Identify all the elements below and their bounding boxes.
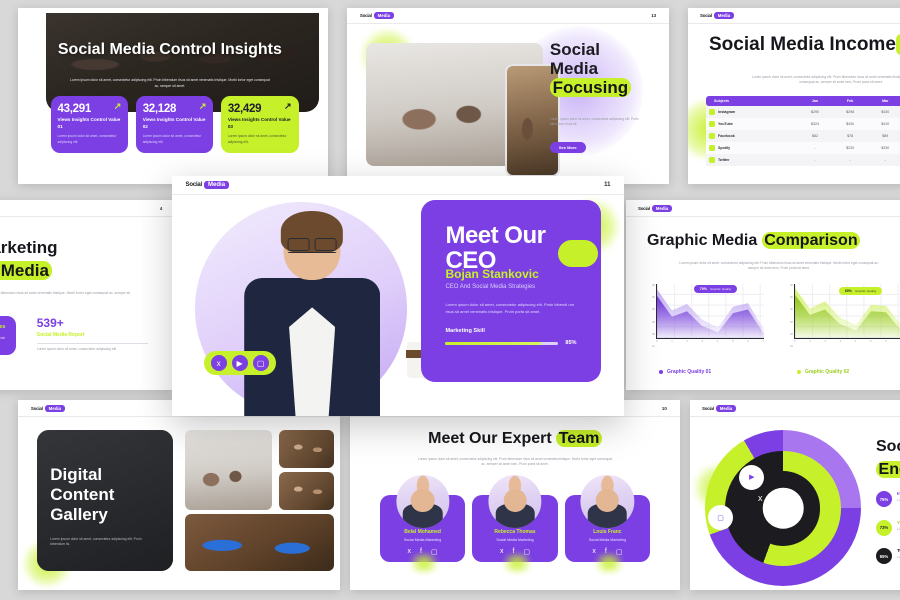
- page-title: Social Media Income: [709, 34, 900, 56]
- platform-icon: [709, 109, 715, 115]
- page-title-line-1: Social: [876, 438, 900, 456]
- brand-name-part2: Media: [714, 12, 734, 19]
- platform-icon: [709, 157, 715, 163]
- stat-value: 539+: [37, 316, 148, 330]
- stat-card[interactable]: ↗ 43,291 Views Insights Control Value 01…: [51, 96, 129, 153]
- stat-note: Lorem ipsum dolor sit amet, consectetur …: [228, 134, 292, 145]
- instagram-icon[interactable]: ▢: [253, 355, 269, 371]
- title-highlight: The Social Media: [0, 261, 52, 280]
- member-social-links: x f ▢: [477, 548, 553, 556]
- table-cell: -: [797, 154, 832, 166]
- team-member-card[interactable]: Rebecca Thomas Social Media Marketing x …: [472, 495, 558, 562]
- stat-card[interactable]: ↗ 32,128 Views Insights Control Value 02…: [136, 96, 214, 153]
- platform-icon: [709, 121, 715, 127]
- table-header-row: Subjects Jan Feb Mar Apr Total: [706, 96, 900, 106]
- column-header: Feb: [833, 96, 868, 106]
- template-showcase: Social Media Control Insights Lorem ipsu…: [0, 0, 900, 600]
- annotation-label: Graphic Quality: [710, 287, 731, 291]
- stat-label: Views Insights Control Value 02: [143, 117, 207, 130]
- slide-meet-our-expert-team[interactable]: Social Media 10 Meet Our Expert Team Lor…: [350, 400, 680, 590]
- portrait-shirt: [289, 307, 335, 416]
- stat-note: Lorem ipsum dolor sit amet, consectetur …: [37, 347, 148, 352]
- member-role: Social Media Marketing: [385, 538, 461, 542]
- slide-header: Social Media: [690, 400, 900, 417]
- slide-social-media-control-insights[interactable]: Social Media Control Insights Lorem ipsu…: [18, 8, 328, 184]
- annotation-value: 70%: [700, 287, 707, 291]
- legend-label: Graphic Quality 01: [667, 369, 711, 375]
- youtube-icon: ▶: [739, 465, 764, 490]
- slide-social-media-income[interactable]: Social Media Social Media Income Lorem i…: [688, 8, 900, 184]
- page-title: Social Media Control Insights: [46, 40, 294, 60]
- table-cell: $89: [868, 130, 900, 142]
- page-title: Graphic Media Comparison: [647, 232, 860, 250]
- stat-card-group: ↗ 43,291 Views Insights Control Value 01…: [51, 96, 299, 153]
- twitter-icon[interactable]: x: [211, 355, 227, 371]
- table-row: Twitter---$499$499: [706, 154, 900, 166]
- legend-dot-icon: [797, 370, 801, 374]
- annotation-label: Graphic Quality: [855, 289, 876, 293]
- progress-fill: [445, 342, 541, 345]
- slide-header: Social Media 13: [347, 8, 669, 24]
- stat-label: Views Insights Control Value 03: [228, 117, 292, 130]
- platform-icon: [709, 145, 715, 151]
- skill-percent: 85%: [565, 340, 576, 346]
- brand-name-part1: Social: [186, 182, 202, 188]
- member-card-body: Louis Franc Social Media Marketing x f ▢: [565, 495, 651, 562]
- title-highlight: Team: [556, 430, 602, 447]
- row-label: Instagram: [706, 106, 797, 118]
- twitter-icon[interactable]: x: [592, 548, 596, 556]
- row-label: Spotify: [706, 142, 797, 154]
- report-stat: 539+ Social Media Report Lorem ipsum dol…: [37, 316, 148, 352]
- gallery-tile: [279, 472, 334, 510]
- ceo-role: CEO And Social Media Strategies: [445, 284, 576, 290]
- income-table: Subjects Jan Feb Mar Apr Total Instagram…: [706, 96, 900, 166]
- brand-name-part2: Media: [45, 405, 65, 412]
- instagram-icon: ▢: [708, 505, 733, 530]
- table-cell: -: [833, 154, 868, 166]
- column-header: Jan: [797, 96, 832, 106]
- member-name: Rebecca Thomas: [477, 529, 553, 535]
- row-label: Twitter: [706, 154, 797, 166]
- youtube-icon[interactable]: ▶: [232, 355, 248, 371]
- chart-graphic-quality-02: 908060503010 01234567 60% Graphic Qualit…: [785, 284, 900, 349]
- engagement-row: 65% Twitter Lorem ipsum dolor sit: [876, 548, 900, 564]
- facebook-icon[interactable]: f: [512, 548, 514, 556]
- title-line-3-highlight: Focusing: [550, 78, 631, 97]
- member-name: Belal Mohamed: [385, 529, 461, 535]
- stat-caption: Social Media Report: [37, 332, 148, 339]
- ceo-name: Bojan Stankovic: [445, 267, 576, 281]
- percent-badge: 65%: [876, 548, 892, 564]
- slide-content-marketing[interactable]: Social Media 4 Content Marketing The Soc…: [0, 200, 174, 390]
- instagram-icon[interactable]: ▢: [616, 548, 623, 556]
- percent-badge: 75%: [876, 491, 892, 507]
- slide-social-engagement[interactable]: Social Media ▶ ▢ x Social Engagement 75%…: [690, 400, 900, 590]
- member-card-body: Belal Mohamed Social Media Marketing x f…: [380, 495, 466, 562]
- brand-name-part1: Social: [638, 206, 650, 211]
- progress-track: [445, 342, 558, 345]
- page-number: 13: [651, 13, 656, 18]
- column-header: Subjects: [706, 96, 797, 106]
- page-title-line-1: Content Marketing: [0, 238, 58, 258]
- slide-header: Social Media: [626, 200, 900, 217]
- body-text: Lorem ipsum dolor sit amet, consectetur …: [0, 291, 136, 302]
- table-cell: $330: [868, 142, 900, 154]
- avatar: [581, 475, 634, 528]
- brand-logo: Social Media: [31, 405, 65, 412]
- page-title-line-2: The Social Media: [0, 261, 52, 281]
- title-highlight: Engagement: [876, 461, 900, 478]
- legend-label: Graphic Quality 02: [805, 369, 849, 375]
- y-axis-ticks: 908060503010: [785, 284, 793, 349]
- arrow-up-right-icon: ↗: [199, 101, 207, 112]
- slide-digital-content-gallery[interactable]: Social Media Digital Content Gallery Lor…: [18, 400, 340, 590]
- page-title: Meet Our Expert Team: [350, 430, 680, 448]
- member-name: Louis Franc: [570, 529, 646, 535]
- brand-logo: Social Media: [638, 205, 672, 212]
- percent-badge: 73%: [876, 520, 892, 536]
- member-card-body: Rebecca Thomas Social Media Marketing x …: [472, 495, 558, 562]
- table-cell: $230: [833, 142, 868, 154]
- table-row: Facebook$82$78$89$120$300: [706, 130, 900, 142]
- team-member-card[interactable]: Louis Franc Social Media Marketing x f ▢: [565, 495, 651, 562]
- media-performance-card[interactable]: Media Performance And Strategies Lorem i…: [0, 316, 16, 355]
- table-cell: $290: [797, 106, 832, 118]
- table-cell: $430: [868, 106, 900, 118]
- gallery-tile: [185, 430, 272, 510]
- engagement-row: 73% You Tube Lorem ipsum dolor sit: [876, 520, 900, 536]
- stat-label: Views Insights Control Value 01: [58, 117, 122, 130]
- table-cell: -: [797, 142, 832, 154]
- y-axis-ticks: 908060503010: [647, 284, 655, 349]
- annotation-value: 60%: [845, 289, 852, 293]
- subtitle-text: Lorem ipsum dolor sit amet, consectetur …: [68, 78, 273, 89]
- stat-value: 32,429: [228, 103, 292, 115]
- table-cell: $298: [833, 106, 868, 118]
- brand-name-part2: Media: [716, 405, 736, 412]
- avatar: [396, 475, 449, 528]
- chart-legend-01: Graphic Quality 01: [659, 369, 711, 375]
- engagement-donut-chart: ▶ ▢ x: [705, 430, 861, 586]
- page-title: Social Media Focusing: [550, 40, 631, 97]
- title-highlight: Comparison: [762, 232, 860, 249]
- platform-icon: [709, 133, 715, 139]
- title-line-1: Social: [550, 40, 631, 59]
- twitter-icon: x: [758, 493, 763, 503]
- engagement-row: 75% Instagram Lorem ipsum dolor sit: [876, 491, 900, 507]
- brand-name-part1: Social: [700, 13, 712, 18]
- slide-featured-meet-our-ceo[interactable]: Social Media 11 x ▶ ▢ Meet Our CEO Bojan…: [172, 176, 624, 416]
- member-social-links: x f ▢: [385, 548, 461, 556]
- table-row: Instagram$290$298$430$380$1,398: [706, 106, 900, 118]
- slide-header: Social Media 11: [172, 176, 624, 195]
- table-cell: $324: [797, 118, 832, 130]
- page-title-text: Social Media Income: [709, 34, 896, 55]
- title-plain: Meet Our Expert: [428, 430, 556, 447]
- body-text: Lorem ipsum dolor sit amet, consectetur …: [416, 457, 614, 467]
- stat-value: 43,291: [58, 103, 122, 115]
- stat-value: 32,128: [143, 103, 207, 115]
- ceo-bio: Lorem ipsum dolor sit amet, consectetur …: [445, 302, 576, 315]
- chart-annotation-badge: 60% Graphic Quality: [839, 287, 883, 295]
- facebook-icon[interactable]: f: [605, 548, 607, 556]
- x-axis-ticks: 01234567: [656, 340, 764, 348]
- slide-graphic-media-comparison[interactable]: Social Media Graphic Media Comparison Lo…: [626, 200, 900, 390]
- card-body: Lorem ipsum dolor sit amet, consectetur …: [0, 336, 8, 347]
- table-row: Spotify-$230$330$489$844: [706, 142, 900, 154]
- member-social-links: x f ▢: [570, 548, 646, 556]
- ceo-portrait: [244, 207, 380, 416]
- slide-social-media-focusing[interactable]: Social Media 13 Social Media Focusing Lo…: [347, 8, 669, 184]
- brand-logo: Social Media: [700, 12, 734, 19]
- social-links-bar: x ▶ ▢: [204, 351, 276, 375]
- stat-card[interactable]: ↗ 32,429 Views Insights Control Value 03…: [221, 96, 299, 153]
- row-label: Facebook: [706, 130, 797, 142]
- member-role: Social Media Marketing: [477, 538, 553, 542]
- facebook-icon[interactable]: f: [420, 548, 422, 556]
- arrow-up-right-icon: ↗: [114, 101, 122, 112]
- body-text: Lorem ipsum dolor sit amet, consectetur …: [748, 75, 900, 85]
- brand-name-part1: Social: [360, 13, 372, 18]
- arrow-up-right-icon: ↗: [284, 101, 292, 112]
- page-number: 10: [662, 406, 667, 411]
- stat-note: Lorem ipsum dolor sit amet, consectetur …: [58, 134, 122, 145]
- gallery-tile: [279, 430, 334, 468]
- skill-progress: 85%: [445, 340, 576, 346]
- brand-name-part1: Social: [702, 406, 714, 411]
- page-title-line-2: Engagement: [876, 461, 900, 479]
- table-cell: $430: [833, 118, 868, 130]
- page-title: Digital Content Gallery: [50, 465, 166, 525]
- page-number: 11: [604, 182, 610, 188]
- stat-note: Lorem ipsum dolor sit amet, consectetur …: [143, 134, 207, 145]
- instagram-icon[interactable]: ▢: [431, 548, 438, 556]
- slide-header: Social Media: [688, 8, 900, 24]
- legend-dot-icon: [659, 370, 663, 374]
- slide-header: Social Media 4: [0, 200, 174, 217]
- twitter-icon[interactable]: x: [500, 548, 504, 556]
- brand-logo: Social Media: [702, 405, 736, 412]
- body-text: Lorem ipsum dolor sit amet, consectetur …: [677, 261, 881, 271]
- card-title: Media Performance And Strategies: [0, 324, 8, 331]
- page-title: Meet Our CEO: [445, 223, 576, 273]
- table-cell: $78: [833, 130, 868, 142]
- brand-name-part2: Media: [204, 181, 229, 189]
- title-line-2: Media: [550, 59, 631, 78]
- column-header: Mar: [868, 96, 900, 106]
- chart-annotation-badge: 70% Graphic Quality: [694, 285, 738, 293]
- brand-name-part2: Media: [374, 12, 394, 19]
- table-cell: $410: [868, 118, 900, 130]
- team-member-card[interactable]: Belal Mohamed Social Media Marketing x f…: [380, 495, 466, 562]
- brand-name-part2: Media: [652, 205, 672, 212]
- table-row: YouTube$324$430$410$580$1,717: [706, 118, 900, 130]
- page-number: 4: [160, 206, 162, 211]
- table-cell: $82: [797, 130, 832, 142]
- chart-graphic-quality-01: 908060503010 01234567 70% Graphic Qualit…: [647, 284, 764, 349]
- skill-label: Marketing Skill: [445, 328, 576, 334]
- row-label: YouTube: [706, 118, 797, 130]
- x-axis-ticks: 01234567: [794, 340, 900, 348]
- instagram-icon[interactable]: ▢: [523, 548, 530, 556]
- ceo-info-panel: Meet Our CEO Bojan Stankovic CEO And Soc…: [421, 200, 602, 382]
- table-body: Instagram$290$298$430$380$1,398YouTube$3…: [706, 106, 900, 166]
- table-cell: -: [868, 154, 900, 166]
- twitter-icon[interactable]: x: [408, 548, 412, 556]
- brand-logo: Social Media: [360, 12, 394, 19]
- title-plain: Graphic Media: [647, 232, 762, 249]
- donut-center: [763, 488, 804, 529]
- title-highlight-block: [896, 34, 900, 55]
- member-role: Social Media Marketing: [570, 538, 646, 542]
- gallery-tile: [185, 514, 333, 571]
- brand-name-part1: Social: [31, 406, 43, 411]
- brand-logo: Social Media: [186, 181, 230, 189]
- see-more-button[interactable]: See More: [550, 142, 586, 153]
- glasses-icon: [288, 239, 337, 254]
- body-text: Lorem ipsum dolor sit amet, consectetur …: [50, 537, 156, 548]
- body-text: Lorem ipsum dolor sit amet, consectetur …: [550, 117, 647, 127]
- avatar: [488, 475, 541, 528]
- divider: [37, 343, 148, 344]
- chart-legend-02: Graphic Quality 02: [797, 369, 849, 375]
